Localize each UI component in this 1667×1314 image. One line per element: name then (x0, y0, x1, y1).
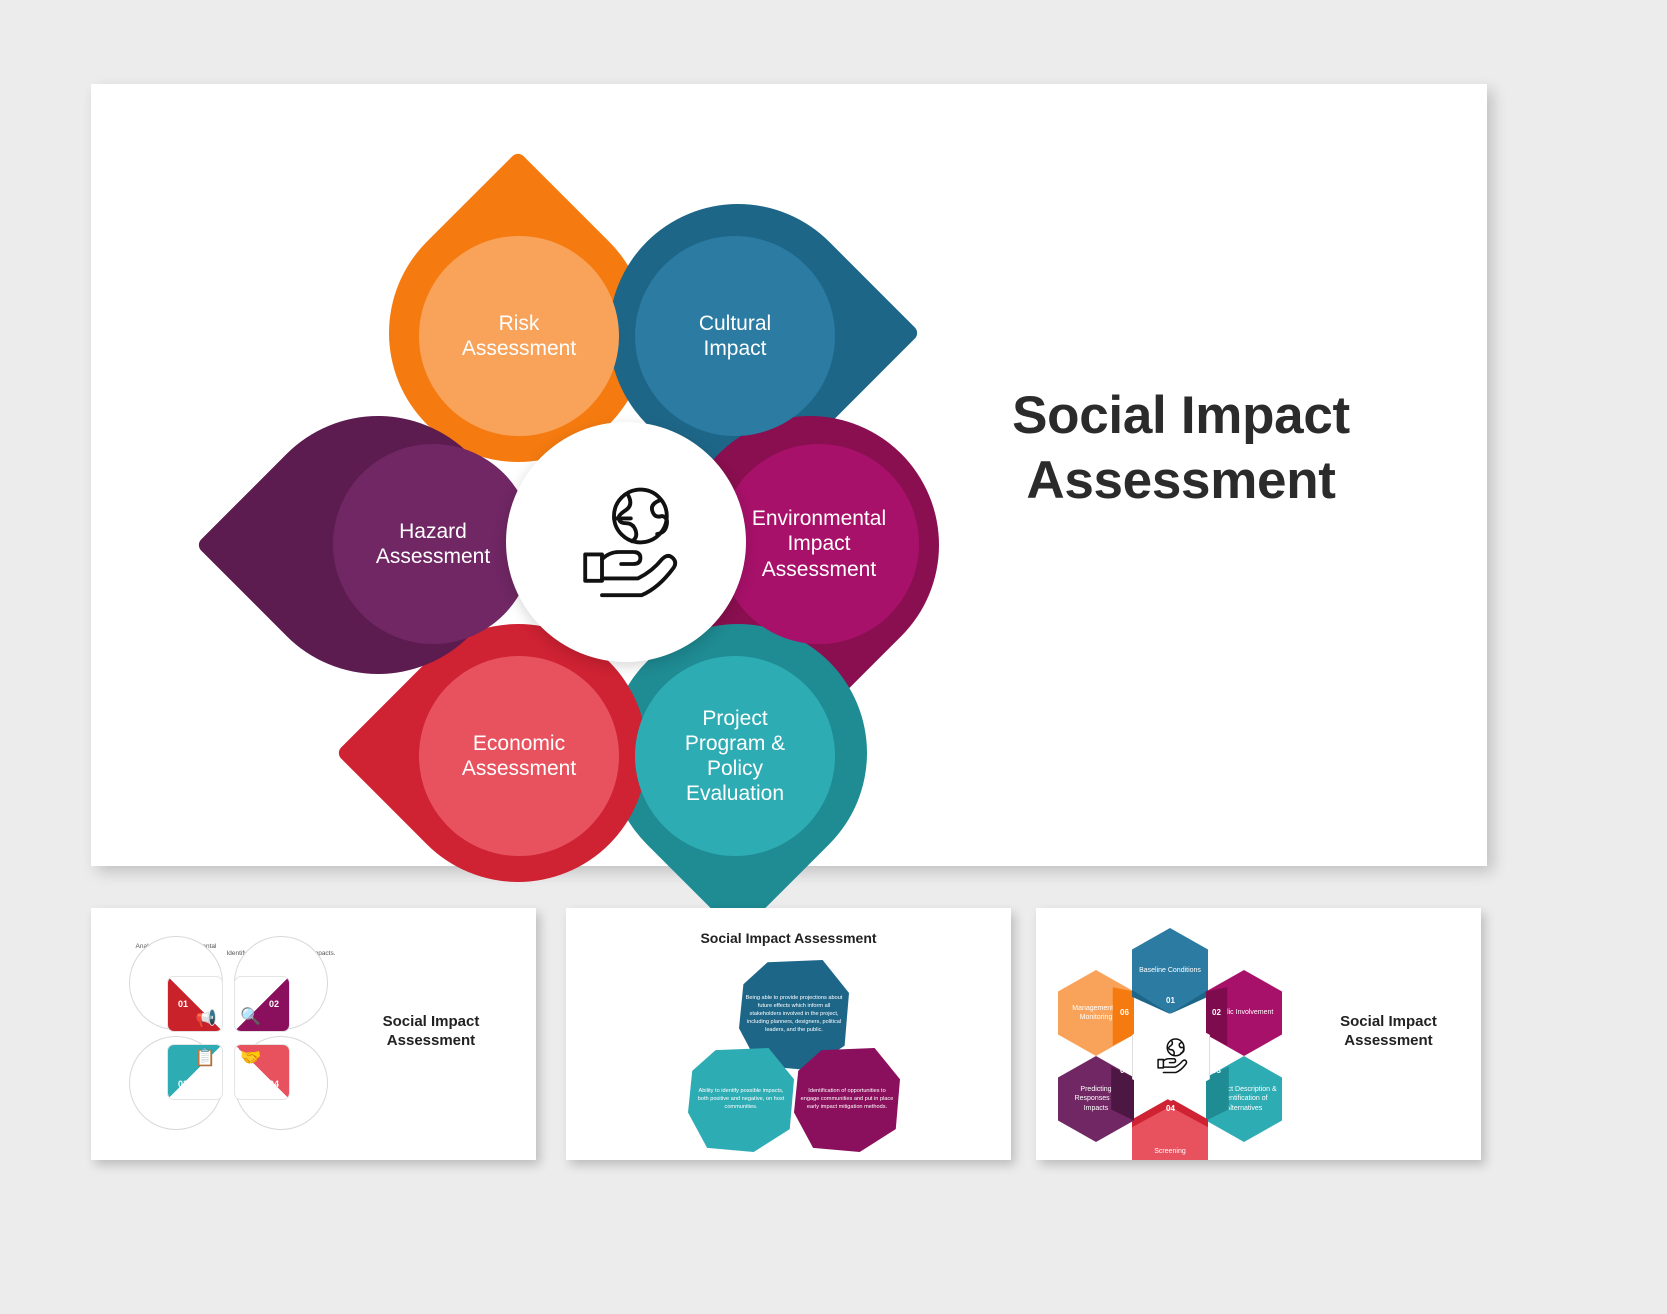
hazard-line-1: Hazard (399, 520, 467, 543)
risk-line-2: Assessment (462, 337, 576, 360)
thumb2-title: Social Impact Assessment (566, 930, 1011, 948)
environmental-line-1: Environmental (752, 507, 886, 530)
risk-line-1: Risk (499, 312, 540, 335)
center-hub[interactable] (506, 422, 746, 662)
cultural-line-1: Cultural (699, 312, 771, 335)
thumb1-card-01[interactable]: 01 📢 (167, 976, 223, 1032)
environmental-line-3: Assessment (762, 558, 876, 581)
thumb3-number-05: 05 (1120, 1066, 1129, 1075)
thumb3-number-06: 06 (1120, 1008, 1129, 1017)
project-line-1: Project (702, 707, 767, 730)
project-line-3: Policy (707, 757, 763, 780)
thumb1-number-03: 03 (178, 1079, 188, 1089)
economic-line-2: Assessment (462, 757, 576, 780)
thumb1-number-02: 02 (269, 999, 279, 1009)
thumb3-hex-04-label: Screening (1154, 1147, 1186, 1156)
thumb1-card-03[interactable]: 03 📋 (167, 1044, 223, 1100)
environmental-line-2: Impact (787, 532, 850, 555)
thumbnail-slide-2[interactable]: Social Impact Assessment Being able to p… (566, 908, 1011, 1160)
thumb3-number-04: 04 (1166, 1104, 1175, 1113)
petal-label-project-program-policy-evaluation[interactable]: Project Program & Policy Evaluation (635, 656, 835, 856)
thumb3-title-line-1: Social Impact (1340, 1013, 1437, 1030)
globe-in-hand-icon (566, 480, 686, 605)
hazard-line-2: Assessment (376, 545, 490, 568)
thumb1-number-01: 01 (178, 999, 188, 1009)
petal-label-risk-assessment[interactable]: Risk Assessment (419, 236, 619, 436)
petal-label-economic-assessment[interactable]: Economic Assessment (419, 656, 619, 856)
thumbnail-slide-1[interactable]: Analyze how developmental proposals affe… (91, 908, 536, 1160)
petal-diagram: Risk Assessment Cultural Impact Environm… (241, 194, 981, 874)
cultural-line-2: Impact (703, 337, 766, 360)
thumb3-number-01: 01 (1166, 996, 1175, 1005)
thumbnail-slide-3[interactable]: Management & Monitoring 06 Baseline Cond… (1036, 908, 1481, 1160)
project-line-2: Program & (685, 732, 785, 755)
thumb1-title-line-1: Social Impact (383, 1013, 480, 1030)
megaphone-target-icon: 📢 (196, 1010, 217, 1027)
thumb3-center-hex[interactable] (1132, 1013, 1210, 1101)
project-line-4: Evaluation (686, 782, 784, 805)
thumb1-title: Social Impact Assessment (341, 1013, 521, 1051)
thumb2-blob-2[interactable]: Ability to identify possible impacts, bo… (688, 1048, 794, 1152)
petal-label-hazard-assessment[interactable]: Hazard Assessment (333, 444, 533, 644)
page-title: Social Impact Assessment (921, 384, 1441, 513)
petal-label-environmental-impact-assessment[interactable]: Environmental Impact Assessment (719, 444, 919, 644)
economic-line-1: Economic (473, 732, 565, 755)
hands-gear-icon: 🤝 (240, 1049, 261, 1066)
globe-in-hand-icon (1152, 1036, 1190, 1079)
thumb3-title-line-2: Assessment (1344, 1032, 1432, 1049)
thumb3-number-02: 02 (1212, 1008, 1221, 1017)
thumb3-number-03: 03 (1212, 1066, 1221, 1075)
thumb1-card-04[interactable]: 04 🤝 (234, 1044, 290, 1100)
thumb2-blob-3[interactable]: Identification of opportunities to engag… (794, 1048, 900, 1152)
thumb3-hex-01-label: Baseline Conditions (1139, 966, 1201, 975)
petal-label-cultural-impact[interactable]: Cultural Impact (635, 236, 835, 436)
main-slide[interactable]: Risk Assessment Cultural Impact Environm… (91, 84, 1487, 866)
thumb1-number-04: 04 (269, 1079, 279, 1089)
magnifier-people-icon: 🔍 (240, 1008, 261, 1025)
page-title-line-1: Social Impact (1012, 386, 1350, 445)
thumb1-card-02[interactable]: 02 🔍 (234, 976, 290, 1032)
page-title-line-2: Assessment (1026, 451, 1335, 510)
thumb3-title: Social Impact Assessment (1306, 1013, 1471, 1051)
document-check-icon: 📋 (195, 1049, 216, 1066)
thumb1-title-line-2: Assessment (387, 1032, 475, 1049)
